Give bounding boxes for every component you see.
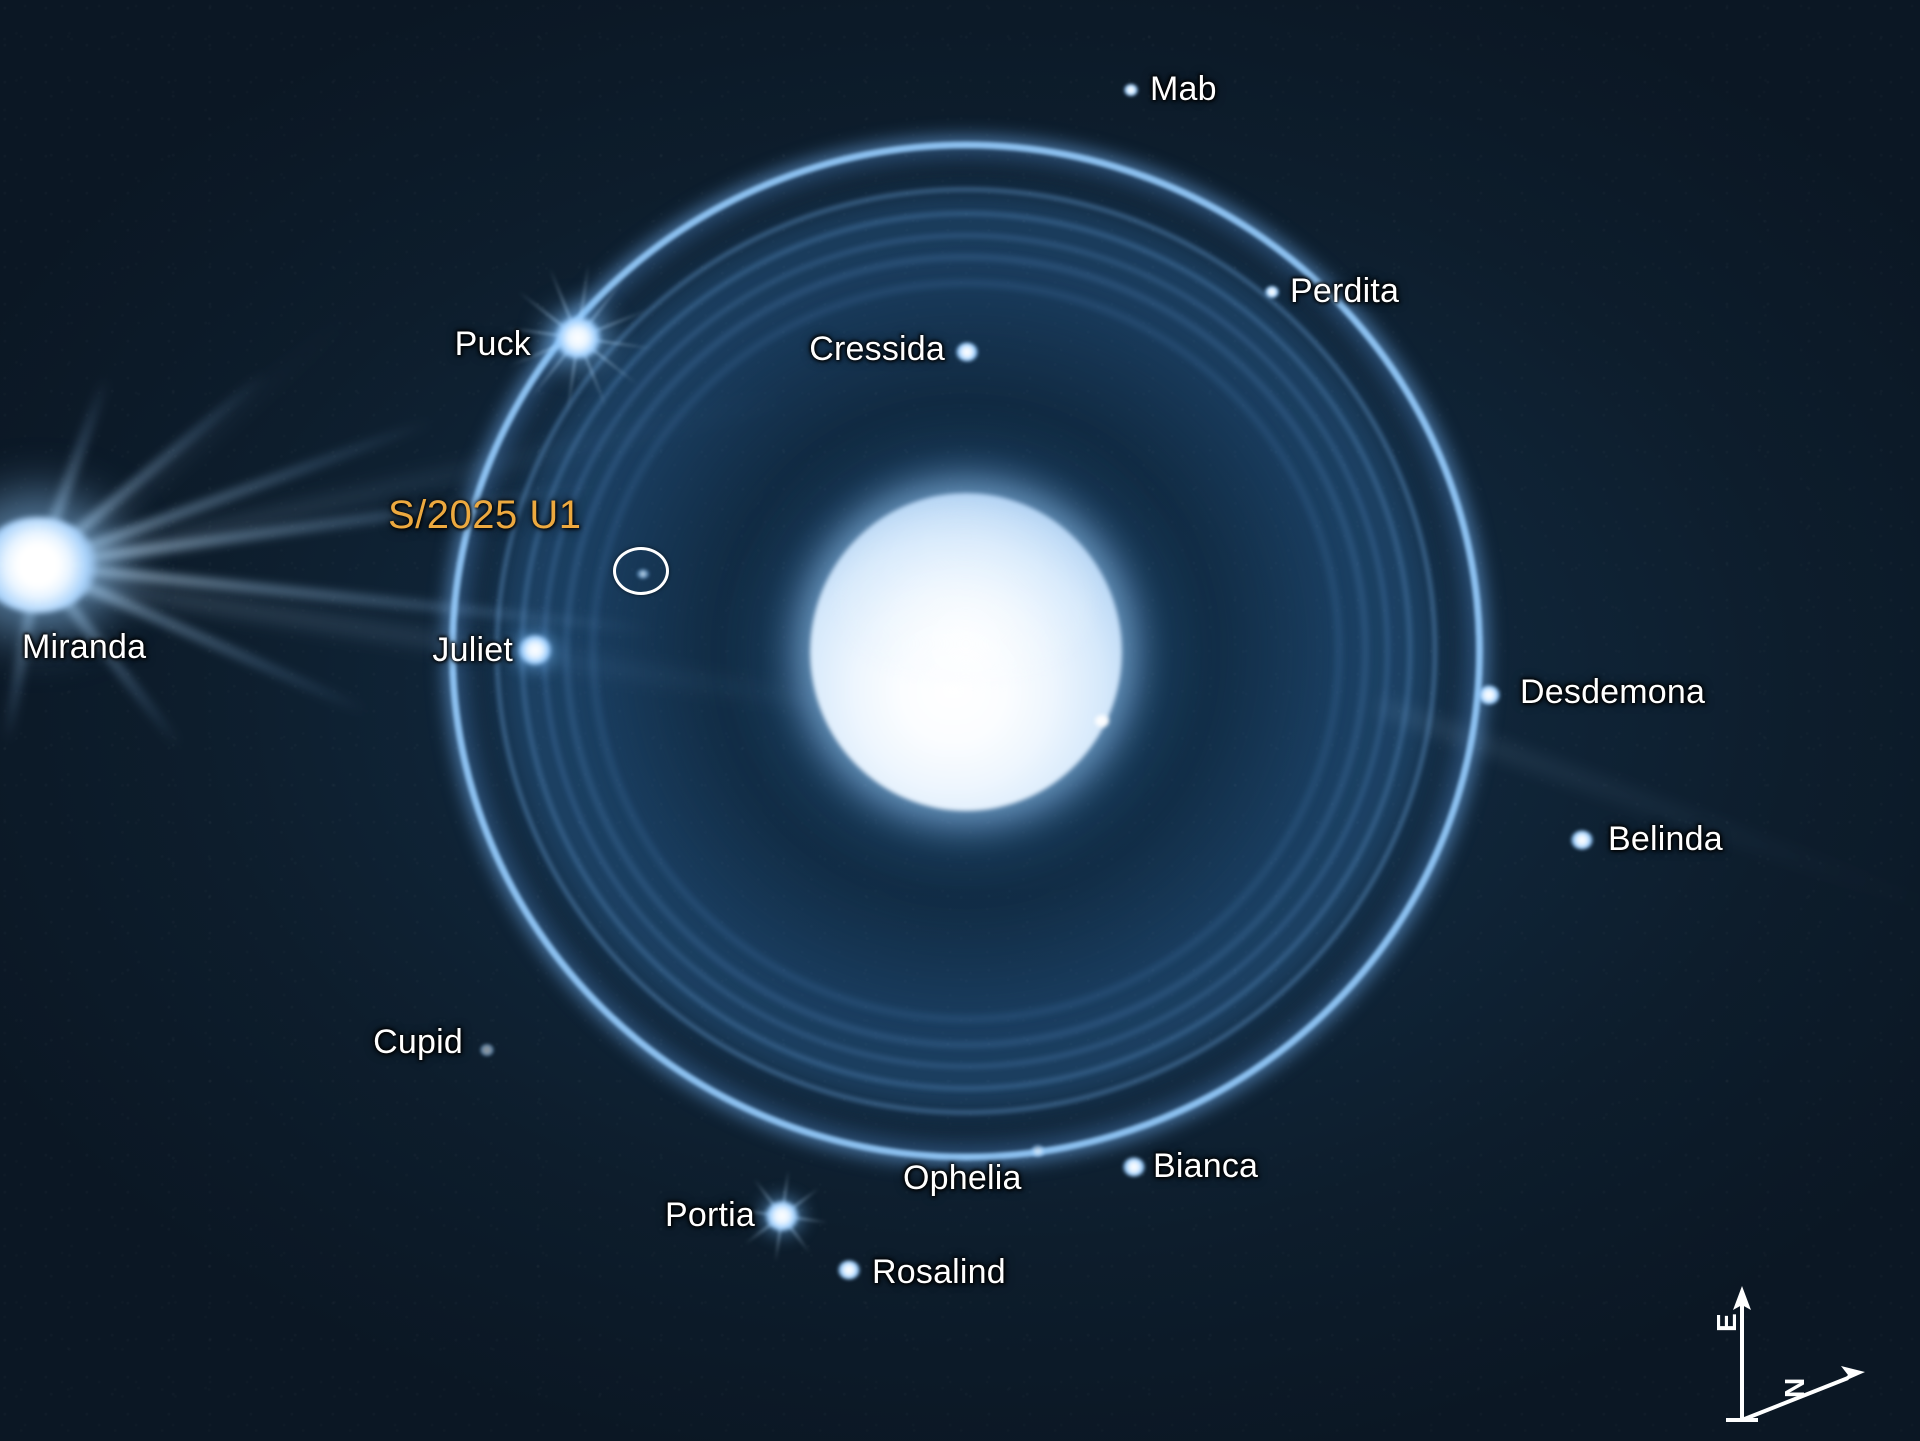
moon-label-mab: Mab [1150,70,1217,109]
moon-label-miranda: Miranda [22,628,146,667]
moon-dot-puck [554,317,602,359]
cloud-spot [1095,715,1109,727]
compass-diagonal-arrowhead [1840,1366,1865,1383]
moon-label-perdita: Perdita [1290,272,1399,311]
moon-dot-perdita [1265,286,1279,298]
moon-label-cupid: Cupid [373,1023,463,1062]
discovery-moon-dot [637,569,650,579]
moon-label-desdemona: Desdemona [1520,673,1705,712]
moon-label-puck: Puck [455,325,531,364]
moon-label-portia: Portia [665,1196,755,1235]
moon-dot-bianca [1123,1158,1145,1177]
compass-label-east: E [1711,1313,1742,1332]
compass-diagonal-arm [1742,1378,1848,1420]
astronomy-image: MabPerditaCressidaPuckMirandaJulietDesde… [0,0,1920,1441]
planet-disk [810,493,1122,811]
moon-dot-portia [765,1201,799,1231]
moon-dot-ophelia [1031,1145,1045,1157]
moon-label-bianca: Bianca [1153,1147,1258,1186]
moon-dot-cressida [956,343,978,362]
moon-label-belinda: Belinda [1608,820,1723,859]
miranda-moon [0,517,98,613]
moon-label-cressida: Cressida [809,330,945,369]
glare-streak-right-edge [1378,700,1920,923]
moon-dot-belinda [1571,831,1593,850]
moon-label-ophelia: Ophelia [903,1159,1022,1198]
moon-dot-juliet [518,635,552,665]
compass-label-north: N [1779,1378,1810,1398]
compass-vertical-arrowhead [1733,1286,1751,1310]
moon-label-rosalind: Rosalind [872,1253,1006,1292]
moon-dot-rosalind [838,1261,860,1280]
moon-dot-desdemona [1478,686,1500,705]
moon-label-juliet: Juliet [432,631,513,670]
moon-dot-cupid [480,1044,494,1056]
moon-dot-mab [1124,84,1138,96]
glare-streak-upper-right [59,389,802,570]
discovery-label-s2025u1: S/2025 U1 [388,493,582,538]
compass-rose: E N [1700,1280,1890,1430]
glare-streak-upper-left [57,300,369,564]
